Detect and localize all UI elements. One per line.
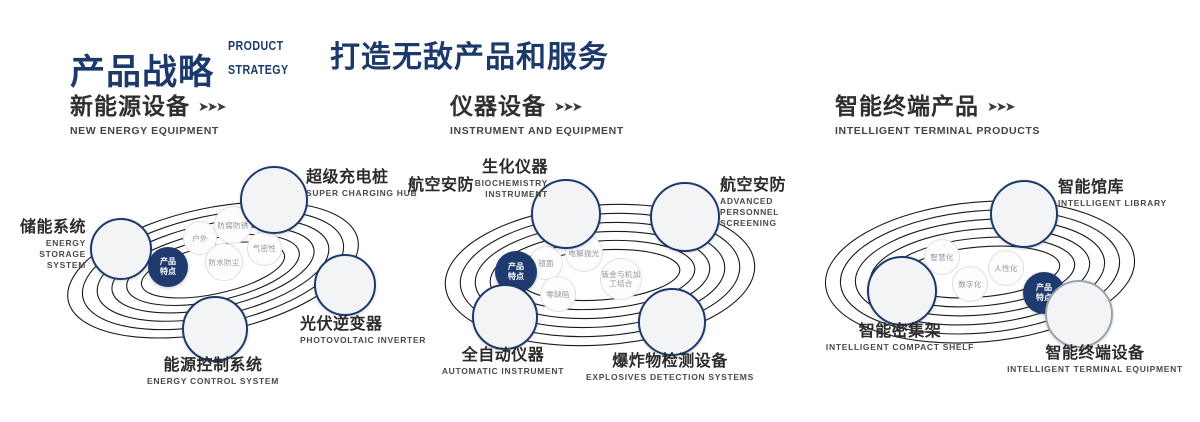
section-title-en-3: INTELLIGENT TERMINAL PRODUCTS	[835, 125, 1040, 137]
node-intelligent-compact-shelf[interactable]	[867, 256, 937, 326]
control-cabinet-icon	[184, 298, 248, 362]
product-strategy-infographic: 产品战略 PRODUCT STRATEGY 打造无敌产品和服务 新能源设备 ➤➤…	[0, 0, 1200, 422]
feature-bubble-zero-defect: 零缺陷	[540, 276, 576, 312]
section-header-new-energy: 新能源设备 ➤➤➤ NEW ENERGY EQUIPMENT	[70, 95, 225, 137]
chevron-right-icon: ➤➤➤	[987, 101, 1014, 115]
badge-line1: 产品	[508, 262, 524, 272]
section-title-cn-3: 智能终端产品 ➤➤➤	[835, 95, 1040, 120]
cluster-instrument: 镜面 电解抛光 零缺陷 钣金与机加工结合 产品 特点 生化仪器 BIOCH	[400, 150, 800, 410]
caption-energy-control-system: 能源控制系统 ENERGY CONTROL SYSTEM	[122, 356, 304, 387]
caption-intelligent-terminal-equipment: 智能终端设备 INTELLIGENT TERMINAL EQUIPMENT	[1000, 344, 1190, 375]
section-title-en-1: NEW ENERGY EQUIPMENT	[70, 125, 225, 137]
screening-machine-icon	[652, 184, 720, 252]
caption-intelligent-library: 智能馆库 INTELLIGENT LIBRARY	[1058, 178, 1167, 209]
caption-energy-storage-system: 储能系统 ENERGY STORAGE SYSTEM	[0, 218, 86, 270]
node-advanced-personnel-screening[interactable]	[650, 182, 720, 252]
node-explosives-detection[interactable]	[638, 288, 706, 356]
caption-intelligent-compact-shelf: 智能密集架 INTELLIGENT COMPACT SHELF	[820, 322, 980, 353]
cluster-intelligent-terminal: 智慧化 数字化 人性化 产品 特点 智能	[800, 150, 1200, 410]
auto-instrument-icon	[474, 286, 538, 350]
node-photovoltaic-inverter[interactable]	[314, 254, 376, 316]
caption-explosives-detection: 爆炸物检测设备 EXPLOSIVES DETECTION SYSTEMS	[580, 352, 760, 383]
node-super-charging-hub[interactable]	[240, 166, 308, 234]
node-automatic-instrument[interactable]	[472, 284, 538, 350]
feature-bubble-humanized: 人性化	[988, 250, 1024, 286]
section-title-en-2: INSTRUMENT AND EQUIPMENT	[450, 125, 624, 137]
masthead-title-cn: 产品战略	[70, 56, 214, 91]
masthead-title-en-line1: PRODUCT	[228, 40, 289, 52]
section-title-cn-1: 新能源设备 ➤➤➤	[70, 95, 225, 120]
badge-line1: 产品	[160, 257, 176, 267]
section-header-intelligent-terminal: 智能终端产品 ➤➤➤ INTELLIGENT TERMINAL PRODUCTS	[835, 95, 1040, 137]
caption-automatic-instrument: 全自动仪器 AUTOMATIC INSTRUMENT	[418, 346, 588, 377]
compact-shelf-icon	[869, 258, 937, 326]
masthead: 产品战略 PRODUCT STRATEGY	[70, 28, 302, 91]
section-header-instrument: 仪器设备 ➤➤➤ INSTRUMENT AND EQUIPMENT	[450, 95, 624, 137]
section-title-cn-2: 仪器设备 ➤➤➤	[450, 95, 624, 120]
cluster-new-energy: 户外 防腐防锈 防水防尘 气密性 产品 特点	[0, 150, 400, 410]
product-feature-badge-1: 产品 特点	[148, 247, 188, 287]
badge-line2: 特点	[160, 267, 176, 277]
node-intelligent-terminal-equipment[interactable]	[1045, 280, 1113, 348]
feature-bubble-sheetmetal-machining: 钣金与机加工结合	[600, 258, 642, 300]
feature-bubble-waterproof: 防水防尘	[205, 243, 243, 281]
battery-cabinet-icon	[92, 220, 152, 280]
masthead-slogan: 打造无敌产品和服务	[330, 32, 609, 76]
charging-pile-icon	[242, 168, 308, 234]
feature-bubble-digital: 数字化	[952, 266, 988, 302]
section-title-text-2: 仪器设备	[450, 95, 546, 120]
section-title-text-1: 新能源设备	[70, 95, 190, 120]
caption-advanced-personnel-screening: 航空安防 ADVANCED PERSONNEL SCREENING	[720, 176, 800, 228]
chevron-right-icon: ➤➤➤	[554, 101, 581, 115]
section-title-text-3: 智能终端产品	[835, 95, 979, 120]
chevron-right-icon: ➤➤➤	[198, 101, 225, 115]
masthead-title-en: PRODUCT STRATEGY	[228, 28, 289, 91]
masthead-title-en-line2: STRATEGY	[228, 64, 289, 76]
explosive-detector-icon	[640, 290, 706, 356]
node-energy-control-system[interactable]	[182, 296, 248, 362]
badge-line2: 特点	[508, 272, 524, 282]
node-intelligent-library[interactable]	[990, 180, 1058, 248]
library-room-icon	[992, 182, 1058, 248]
node-energy-storage-system[interactable]	[90, 218, 152, 280]
caption-aviation-security: 航空安防	[408, 176, 474, 194]
self-service-kiosk-icon	[1047, 282, 1113, 348]
feature-bubble-airtight: 气密性	[247, 231, 282, 266]
inverter-cabinet-icon	[316, 256, 376, 316]
